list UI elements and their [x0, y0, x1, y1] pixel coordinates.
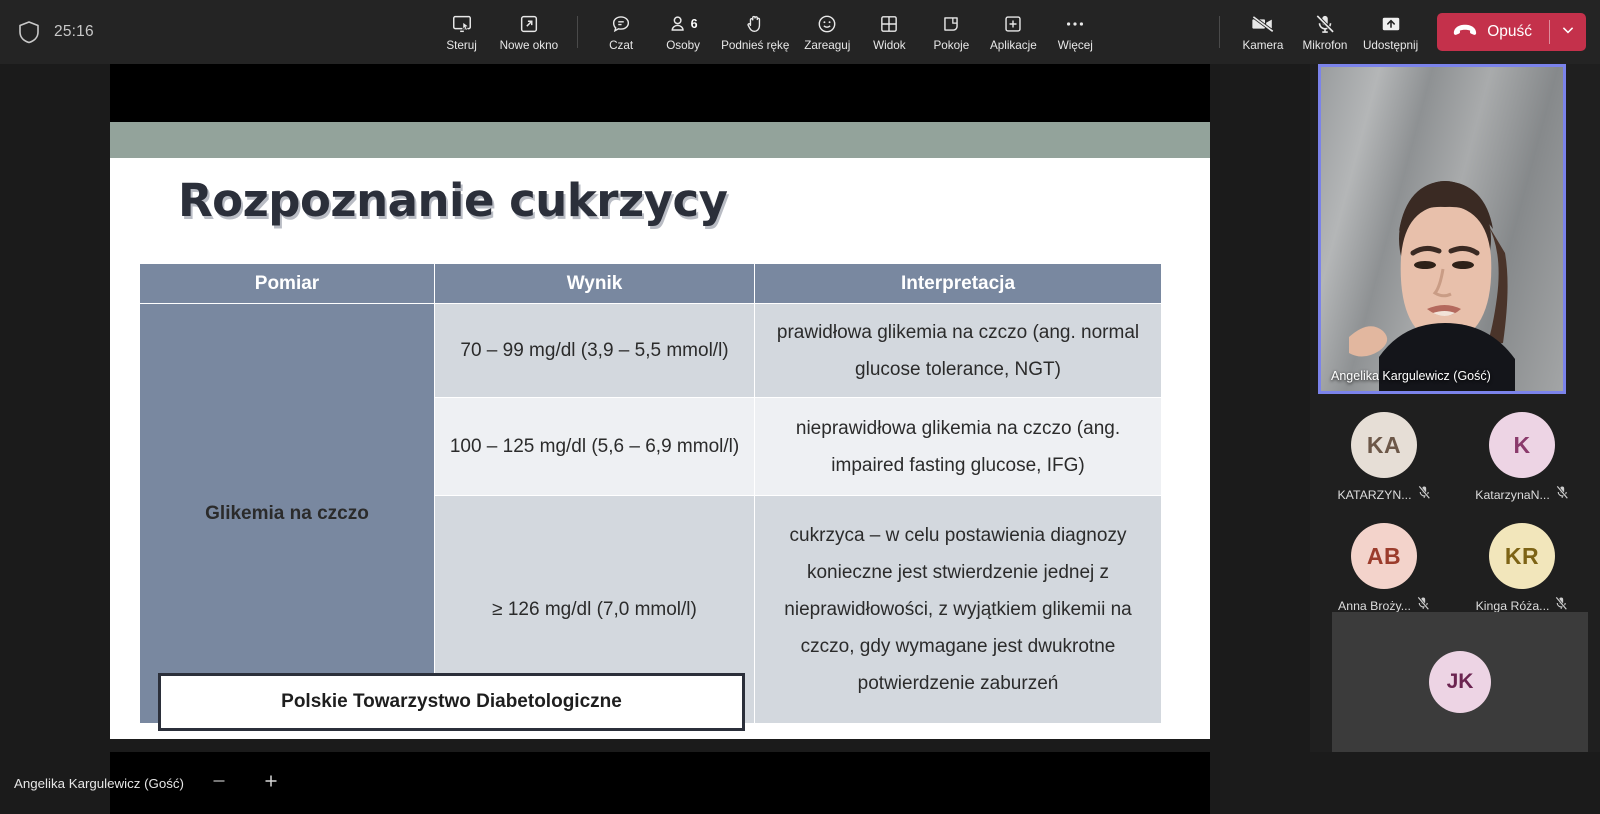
interpretation-cell-1: prawidłowa glikemia na czczo (ang. norma… [755, 304, 1162, 398]
diagnosis-table: Pomiar Wynik Interpretacja Glikemia na c… [139, 263, 1162, 724]
react-button-label: Zareaguj [804, 39, 850, 52]
plus-box-icon [1002, 12, 1024, 36]
microphone-toggle-label: Mikrofon [1303, 39, 1348, 52]
zoom-out-button[interactable] [202, 766, 236, 800]
slide-top-black-band [110, 64, 1210, 122]
toolbar-divider-2 [1219, 16, 1220, 48]
microphone-off-icon [1556, 485, 1569, 505]
avatar: K [1489, 412, 1555, 478]
ellipsis-icon [1063, 12, 1087, 36]
slide-accent-band [110, 122, 1210, 158]
microphone-off-icon [1314, 12, 1336, 36]
toolbar-right-group: Kamera Mikrofon Udostępnij [1207, 5, 1600, 59]
chat-button[interactable]: Czat [590, 5, 652, 59]
slide-title: Rozpoznanie cukrzycy [178, 174, 728, 227]
minus-icon [210, 772, 228, 795]
participant-name: Kinga Róża... [1476, 599, 1550, 613]
result-cell-2: 100 – 125 mg/dl (5,6 – 6,9 mmol/l) [435, 398, 755, 496]
participant-meta: KatarzynaN... [1475, 485, 1569, 505]
roster-row: AB Anna Broży... KR Kinga Róża... [1316, 523, 1594, 616]
people-icon: 6 [669, 12, 698, 36]
interpretation-cell-2: nieprawidłowa glikemia na czczo (ang. im… [755, 398, 1162, 496]
view-button[interactable]: Widok [858, 5, 920, 59]
chevron-down-icon [1560, 22, 1576, 43]
leave-meeting-group: Opuść [1437, 13, 1586, 51]
featured-participant-tile[interactable]: JK [1332, 612, 1588, 752]
camera-toggle-button[interactable]: Kamera [1232, 5, 1294, 59]
more-button-label: Więcej [1058, 39, 1093, 52]
bottom-bar-content: Angelika Kargulewicz (Gość) [0, 752, 1600, 814]
plus-icon [262, 772, 280, 795]
table-header-row: Pomiar Wynik Interpretacja [140, 264, 1162, 304]
presenter-name-label: Angelika Kargulewicz (Gość) [14, 776, 184, 791]
meeting-timer: 25:16 [54, 23, 94, 41]
avatar: KA [1351, 412, 1417, 478]
participant-name: Anna Broży... [1338, 599, 1411, 613]
grid-icon [878, 12, 900, 36]
roster-row: KA KATARZYN... K KatarzynaN... [1316, 412, 1594, 505]
people-button[interactable]: 6 Osoby [652, 5, 714, 59]
give-control-icon [451, 12, 473, 36]
rooms-button[interactable]: Pokoje [920, 5, 982, 59]
participant-roster: KA KATARZYN... K KatarzynaN... [1316, 412, 1594, 634]
shared-slide[interactable]: Rozpoznanie cukrzycy Pomiar Wynik Interp… [110, 64, 1210, 739]
zoom-in-button[interactable] [254, 766, 288, 800]
people-button-label: Osoby [666, 39, 700, 52]
microphone-off-icon [1418, 485, 1431, 505]
citation-box: Polskie Towarzystwo Diabetologiczne [158, 673, 745, 731]
control-button-label: Steruj [446, 39, 477, 52]
share-screen-icon [1379, 12, 1403, 36]
smiley-icon [816, 12, 838, 36]
participant-tile[interactable]: AB Anna Broży... [1322, 523, 1446, 616]
measure-label-cell: Glikemia na czczo [140, 304, 435, 724]
shared-content-stage: Rozpoznanie cukrzycy Pomiar Wynik Interp… [0, 64, 1310, 752]
participant-meta: KATARZYN... [1337, 485, 1430, 505]
slide-body: Rozpoznanie cukrzycy Pomiar Wynik Interp… [110, 158, 1210, 739]
avatar: JK [1429, 651, 1491, 713]
pop-out-icon [518, 12, 540, 36]
people-count-badge: 6 [691, 17, 698, 31]
participant-name: KATARZYN... [1337, 488, 1411, 502]
avatar: KR [1489, 523, 1555, 589]
shield-icon [18, 20, 40, 44]
table-row: Glikemia na czczo 70 – 99 mg/dl (3,9 – 5… [140, 304, 1162, 398]
control-button[interactable]: Steruj [431, 5, 493, 59]
apps-button[interactable]: Aplikacje [982, 5, 1044, 59]
leave-button-label: Opuść [1487, 23, 1532, 41]
more-button[interactable]: Więcej [1044, 5, 1106, 59]
participant-video-image [1349, 161, 1549, 391]
participant-name: KatarzynaN... [1475, 488, 1550, 502]
interpretation-cell-3: cukrzyca – w celu postawienia diagnozy k… [755, 496, 1162, 724]
column-header-interpretation: Interpretacja [755, 264, 1162, 304]
teams-meeting-window: 25:16 Steruj Nowe okno Czat [0, 0, 1600, 814]
share-screen-button[interactable]: Udostępnij [1356, 5, 1425, 59]
participant-tile[interactable]: K KatarzynaN... [1460, 412, 1584, 505]
participant-tile[interactable]: KA KATARZYN... [1322, 412, 1446, 505]
active-speaker-name: Angelika Kargulewicz (Gość) [1331, 369, 1491, 383]
view-button-label: Widok [873, 39, 905, 52]
microphone-toggle-button[interactable]: Mikrofon [1294, 5, 1356, 59]
column-header-measure: Pomiar [140, 264, 435, 304]
react-button[interactable]: Zareaguj [796, 5, 858, 59]
raise-hand-button[interactable]: Podnieś rękę [714, 5, 796, 59]
presentation-bottom-bar: Angelika Kargulewicz (Gość) [0, 752, 1600, 814]
participant-rail: Angelika Kargulewicz (Gość) KA KATARZYN.… [1310, 64, 1600, 752]
raise-hand-button-label: Podnieś rękę [721, 39, 789, 52]
participant-tile[interactable]: KR Kinga Róża... [1460, 523, 1584, 616]
hand-icon [745, 12, 765, 36]
apps-button-label: Aplikacje [990, 39, 1037, 52]
active-speaker-video-tile[interactable]: Angelika Kargulewicz (Gość) [1318, 64, 1566, 394]
toolbar-center-group: Steruj Nowe okno Czat 6 Os [330, 5, 1207, 59]
leave-button[interactable]: Opuść [1437, 13, 1549, 51]
camera-off-icon [1250, 12, 1276, 36]
avatar: AB [1351, 523, 1417, 589]
camera-toggle-label: Kamera [1242, 39, 1283, 52]
toolbar-left-group: 25:16 [0, 20, 330, 44]
meeting-toolbar: 25:16 Steruj Nowe okno Czat [0, 0, 1600, 64]
result-cell-1: 70 – 99 mg/dl (3,9 – 5,5 mmol/l) [435, 304, 755, 398]
leave-options-button[interactable] [1550, 13, 1586, 51]
chat-button-label: Czat [609, 39, 633, 52]
toolbar-divider-1 [577, 16, 578, 48]
breakout-rooms-icon [940, 12, 962, 36]
chat-bubble-icon [610, 12, 632, 36]
new-window-button[interactable]: Nowe okno [493, 5, 565, 59]
new-window-button-label: Nowe okno [500, 39, 558, 52]
share-screen-label: Udostępnij [1363, 39, 1418, 52]
rooms-button-label: Pokoje [933, 39, 969, 52]
hangup-icon [1452, 22, 1478, 43]
column-header-result: Wynik [435, 264, 755, 304]
